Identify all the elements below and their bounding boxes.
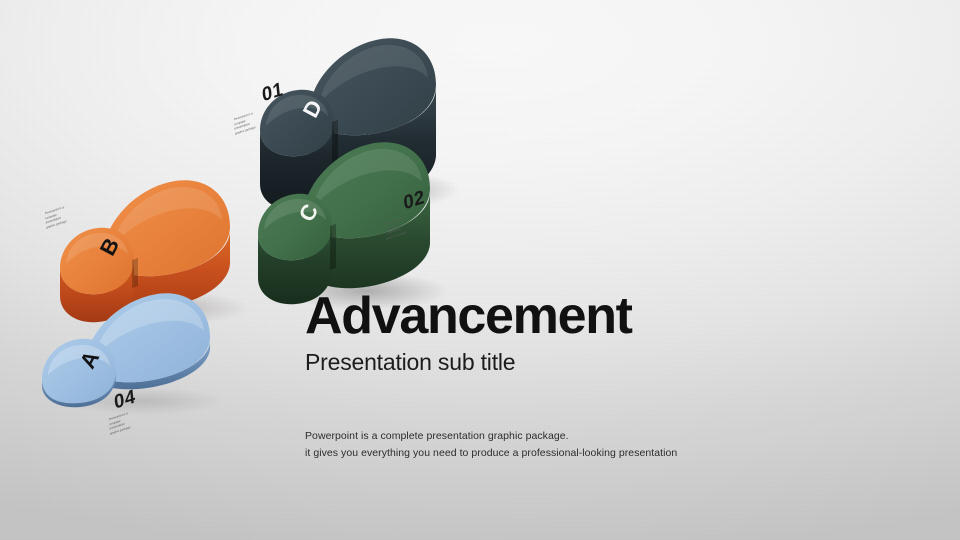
text-block: Advancement Presentation sub title Power… — [305, 289, 632, 376]
body-text[interactable]: Powerpoint is a complete presentation gr… — [305, 428, 677, 462]
presentation-slide: D — [0, 0, 960, 540]
body-text-line-1: Powerpoint is a complete presentation gr… — [305, 428, 677, 445]
body-text-line-2: it gives you everything you need to prod… — [305, 445, 677, 462]
page-title[interactable]: Advancement — [305, 289, 632, 343]
footprint-shape-c[interactable]: C — [256, 128, 466, 313]
page-subtitle[interactable]: Presentation sub title — [305, 349, 632, 376]
